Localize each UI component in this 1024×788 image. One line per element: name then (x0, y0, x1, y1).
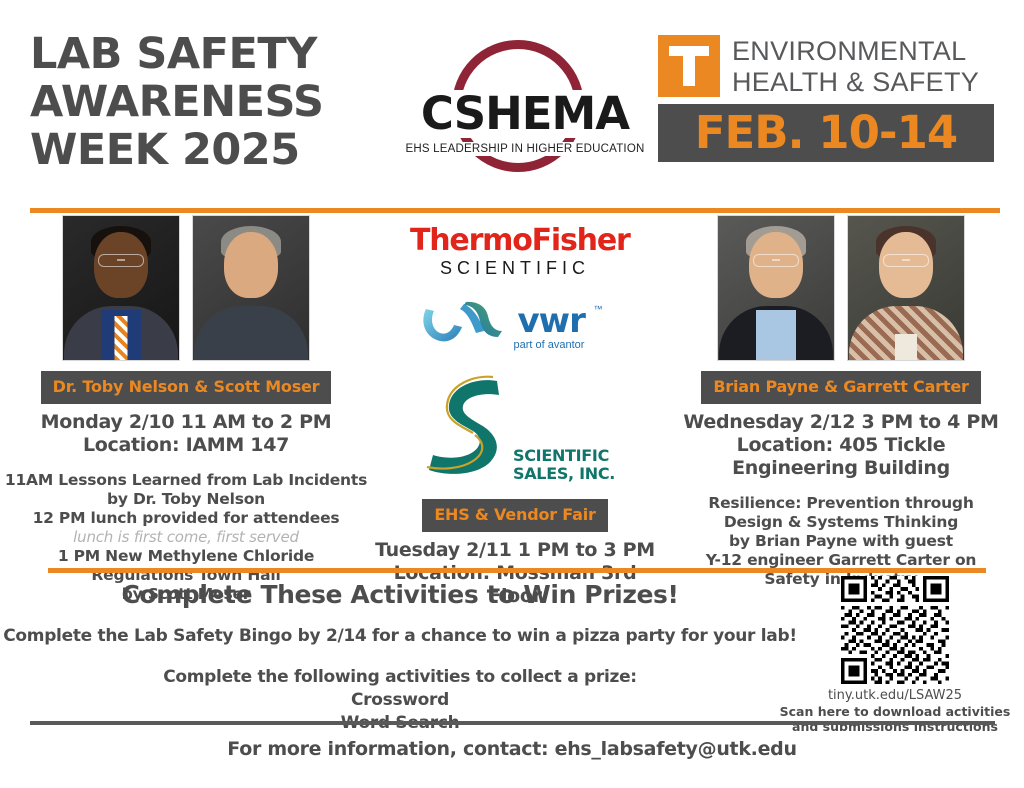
monday-detail-line-4: lunch is first come, first served (0, 528, 372, 547)
title-line-1: LAB SAFETY (30, 30, 390, 78)
ut-department-name: ENVIRONMENTAL HEALTH & SAFETY (732, 35, 979, 98)
wednesday-detail-line-2: Design & Systems Thinking (658, 513, 1024, 532)
photo-scott-moser (192, 215, 310, 361)
monday-detail-line-3: 12 PM lunch provided for attendees (0, 509, 372, 528)
prizes-activity-crossword: Crossword (0, 689, 800, 712)
sessions-area: Dr. Toby Nelson & Scott Moser Monday 2/1… (0, 215, 1024, 565)
ut-word-line-2: HEALTH & SAFETY (732, 67, 979, 98)
wednesday-name-bar-text: Brian Payne & Garrett Carter (713, 377, 968, 396)
vwr-logo: vwr ™ part of avantor (408, 301, 623, 353)
ut-logo-row: ENVIRONMENTAL HEALTH & SAFETY (658, 35, 994, 98)
vwr-wordmark: vwr (518, 303, 585, 339)
monday-photo-row (0, 215, 372, 361)
divider-bottom (30, 721, 995, 725)
poster-footer: For more information, contact: ehs_labsa… (0, 738, 1024, 760)
qr-url: tiny.utk.edu/LSAW25 (775, 688, 1015, 703)
cshema-tagline: EHS LEADERSHIP IN HIGHER EDUCATION (400, 142, 650, 156)
prizes-bingo-line: Complete the Lab Safety Bingo by 2/14 fo… (0, 626, 800, 646)
page-title: LAB SAFETY AWARENESS WEEK 2025 (30, 30, 390, 174)
vwr-trademark-icon: ™ (594, 304, 603, 314)
prizes-activities-intro: Complete the following activities to col… (0, 666, 800, 689)
photo-brian-payne (717, 215, 835, 361)
poster-header: LAB SAFETY AWARENESS WEEK 2025 CSHEMA EH… (0, 0, 1024, 200)
session-monday: Dr. Toby Nelson & Scott Moser Monday 2/1… (0, 215, 372, 604)
date-banner: FEB. 10-14 (658, 104, 994, 162)
footer-contact: For more information, contact: ehs_labsa… (0, 738, 1024, 760)
qr-caption-line-1: Scan here to download activities (775, 704, 1015, 719)
ut-word-line-1: ENVIRONMENTAL (732, 36, 979, 67)
qr-section: tiny.utk.edu/LSAW25 Scan here to downloa… (775, 576, 1015, 734)
divider-top (30, 208, 1000, 213)
monday-detail-line-2: by Dr. Toby Nelson (0, 490, 372, 509)
monday-when-line-2: Location: IAMM 147 (0, 434, 372, 457)
photo-garrett-carter (847, 215, 965, 361)
monday-name-bar: Dr. Toby Nelson & Scott Moser (41, 371, 332, 404)
qr-code-icon[interactable] (841, 576, 949, 684)
cshema-wordmark: CSHEMA (400, 90, 650, 138)
monday-detail-line-5: 1 PM New Methylene Chloride (0, 547, 372, 566)
vwr-subtitle: part of avantor (514, 339, 585, 351)
wednesday-detail: Resilience: Prevention through Design & … (658, 494, 1024, 589)
wednesday-detail-line-3: by Brian Payne with guest (658, 532, 1024, 551)
wednesday-detail-line-1: Resilience: Prevention through (658, 494, 1024, 513)
ut-power-t-icon (658, 35, 720, 97)
wednesday-when-line-3: Engineering Building (658, 457, 1024, 480)
ssi-line-1: SCIENTIFIC (513, 447, 615, 465)
title-line-2: AWARENESS (30, 78, 390, 126)
session-tuesday: ThermoFisher SCIENTIFIC (372, 215, 658, 608)
monday-when-line-1: Monday 2/10 11 AM to 2 PM (0, 411, 372, 434)
poster-root: LAB SAFETY AWARENESS WEEK 2025 CSHEMA EH… (0, 0, 1024, 788)
wednesday-when-line-1: Wednesday 2/12 3 PM to 4 PM (658, 411, 1024, 434)
cshema-logo: CSHEMA EHS LEADERSHIP IN HIGHER EDUCATIO… (400, 32, 650, 182)
tuesday-name-bar: EHS & Vendor Fair (422, 499, 607, 532)
prizes-section: Complete These Activities to Win Prizes!… (0, 580, 800, 735)
scientific-sales-wordmark: SCIENTIFIC SALES, INC. (513, 447, 615, 483)
session-wednesday: Brian Payne & Garrett Carter Wednesday 2… (658, 215, 1024, 589)
vwr-swoosh-icon (420, 301, 512, 345)
divider-middle (48, 568, 986, 573)
wednesday-when-line-2: Location: 405 Tickle (658, 434, 1024, 457)
prizes-heading: Complete These Activities to Win Prizes! (0, 580, 800, 609)
wednesday-name-bar: Brian Payne & Garrett Carter (701, 371, 980, 404)
monday-detail-line-1: 11AM Lessons Learned from Lab Incidents (0, 471, 372, 490)
ssi-line-2: SALES, INC. (513, 465, 615, 483)
monday-when: Monday 2/10 11 AM to 2 PM Location: IAMM… (0, 411, 372, 457)
ut-ehs-logo-block: ENVIRONMENTAL HEALTH & SAFETY FEB. 10-14 (658, 35, 994, 162)
qr-caption: Scan here to download activities and sub… (775, 704, 1015, 734)
thermo-fisher-wordmark: ThermoFisher (410, 225, 620, 257)
title-line-3: WEEK 2025 (30, 126, 390, 174)
scientific-sales-logo: SCIENTIFIC SALES, INC. (405, 375, 625, 495)
tuesday-when-line-1: Tuesday 2/11 1 PM to 3 PM (372, 539, 658, 562)
monday-name-bar-text: Dr. Toby Nelson & Scott Moser (53, 377, 320, 396)
wednesday-photo-row (658, 215, 1024, 361)
photo-toby-nelson (62, 215, 180, 361)
thermo-fisher-subtitle: SCIENTIFIC (410, 258, 620, 279)
wednesday-when: Wednesday 2/12 3 PM to 4 PM Location: 40… (658, 411, 1024, 480)
thermo-fisher-logo: ThermoFisher SCIENTIFIC (410, 225, 620, 279)
tuesday-name-bar-text: EHS & Vendor Fair (434, 505, 595, 524)
date-banner-text: FEB. 10-14 (695, 110, 957, 156)
